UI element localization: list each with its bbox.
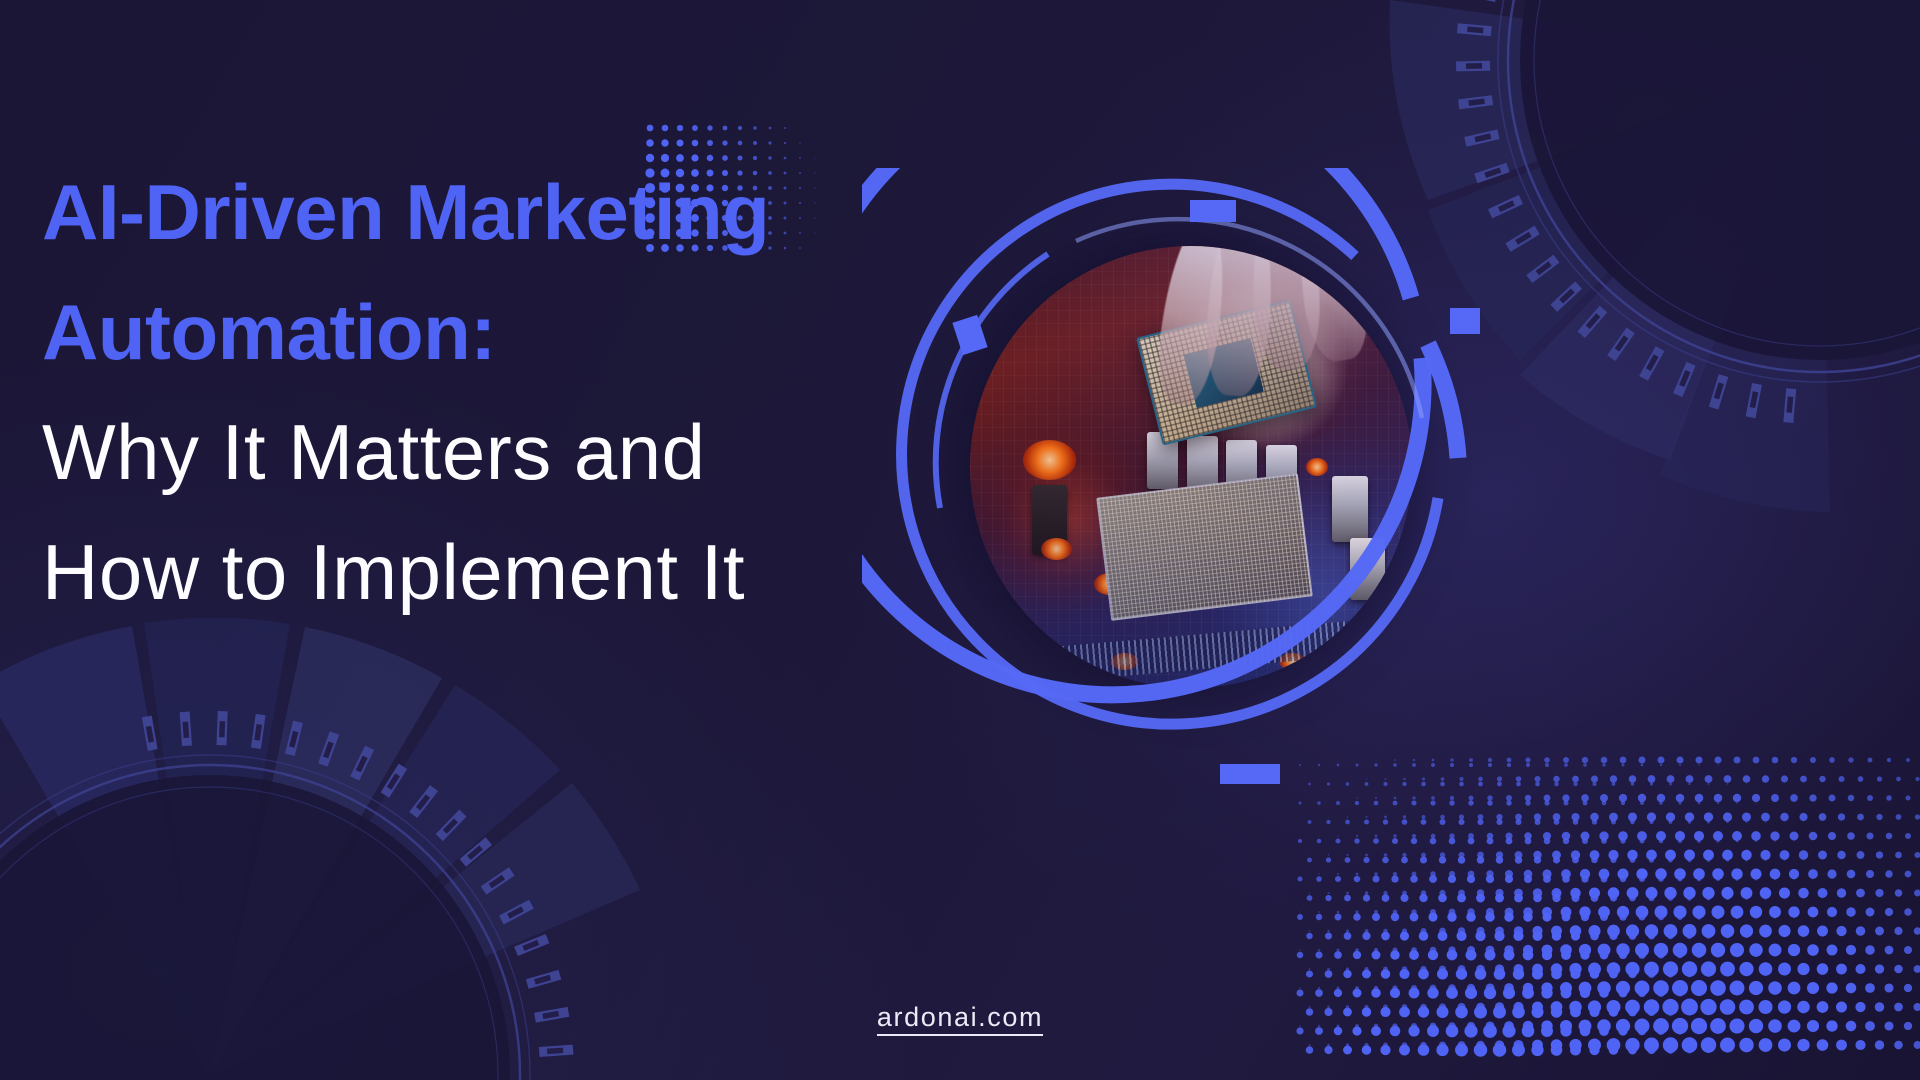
- page-title: AI-Driven Marketing Automation: Why It M…: [42, 152, 769, 632]
- title-line-1: AI-Driven Marketing: [42, 152, 769, 272]
- motherboard-photo: [970, 246, 1412, 688]
- photo-color-tint: [970, 246, 1412, 688]
- blog-banner: AI-Driven Marketing Automation: Why It M…: [0, 0, 1920, 1080]
- site-url-text: ardonai.com: [877, 1002, 1043, 1036]
- site-url-link[interactable]: ardonai.com: [0, 1002, 1920, 1033]
- feature-image-module: [862, 168, 1504, 810]
- title-line-3: Why It Matters and: [42, 392, 769, 512]
- title-line-2: Automation:: [42, 272, 769, 392]
- title-line-4: How to Implement It: [42, 512, 769, 632]
- feature-image: [970, 246, 1412, 688]
